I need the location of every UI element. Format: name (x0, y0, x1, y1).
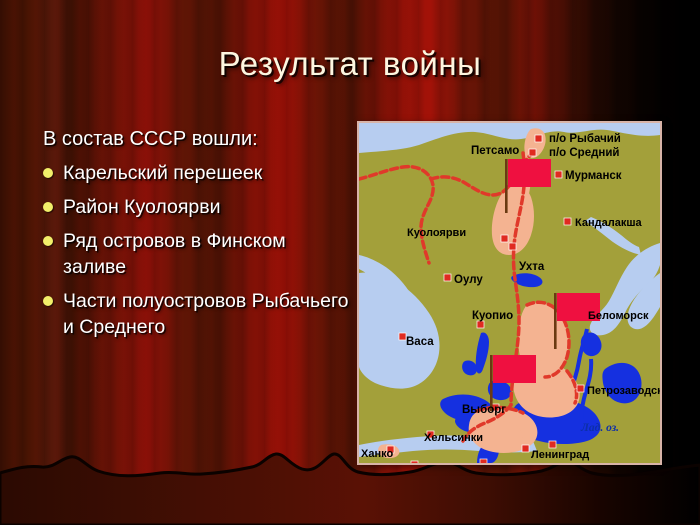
bullet-dot-icon (43, 236, 53, 246)
map-label: Беломорск (588, 310, 649, 322)
map-label: п/о Средний (549, 147, 619, 159)
map-water-label: Лад. оз. (580, 422, 619, 434)
bullet-dot-icon (43, 202, 53, 212)
map-label: Куопио (472, 310, 513, 322)
map-label: Васа (406, 336, 434, 348)
list-item: Район Куолоярви (38, 194, 350, 220)
slide-content: В состав СССР вошли: Карельский перешеек… (38, 126, 350, 348)
intro-text: В состав СССР вошли: (43, 126, 350, 152)
bullet-dot-icon (43, 168, 53, 178)
presentation-slide: Результат войны В состав СССР вошли: Кар… (0, 0, 700, 525)
map-label: Куолоярви (407, 227, 466, 239)
map-image: п/о Рыбачий п/о Средний Петсамо Мурманск… (357, 121, 662, 465)
map-label: Оулу (454, 274, 483, 286)
map-illustration: п/о Рыбачий п/о Средний Петсамо Мурманск… (359, 123, 660, 463)
map-label: Ухта (519, 261, 545, 273)
list-item: Карельский перешеек (38, 160, 350, 186)
list-item-label: Ряд островов в Финском заливе (63, 230, 286, 278)
map-label: Кандалакша (575, 217, 642, 229)
map-label: п/о Рыбачий (549, 133, 621, 145)
list-item: Ряд островов в Финском заливе (38, 228, 350, 280)
list-item-label: Карельский перешеек (63, 162, 262, 184)
list-item-label: Части полуостровов Рыбачьего и Среднего (63, 290, 349, 338)
bullet-dot-icon (43, 296, 53, 306)
map-label: Петрозаводск (587, 385, 660, 397)
list-item-label: Район Куолоярви (63, 196, 221, 218)
bullet-list: Карельский перешеек Район Куолоярви Ряд … (38, 160, 350, 340)
map-label: Выборг (462, 404, 506, 416)
map-label: Мурманск (565, 170, 622, 182)
map-label: Ханко (361, 448, 393, 460)
map-label: Петсамо (471, 145, 519, 157)
list-item: Части полуостровов Рыбачьего и Среднего (38, 288, 350, 340)
map-label: Хельсинки (424, 432, 483, 444)
map-label: Ленинград (531, 449, 589, 461)
map-label: Нарва (479, 462, 513, 463)
page-title: Результат войны (0, 44, 700, 84)
